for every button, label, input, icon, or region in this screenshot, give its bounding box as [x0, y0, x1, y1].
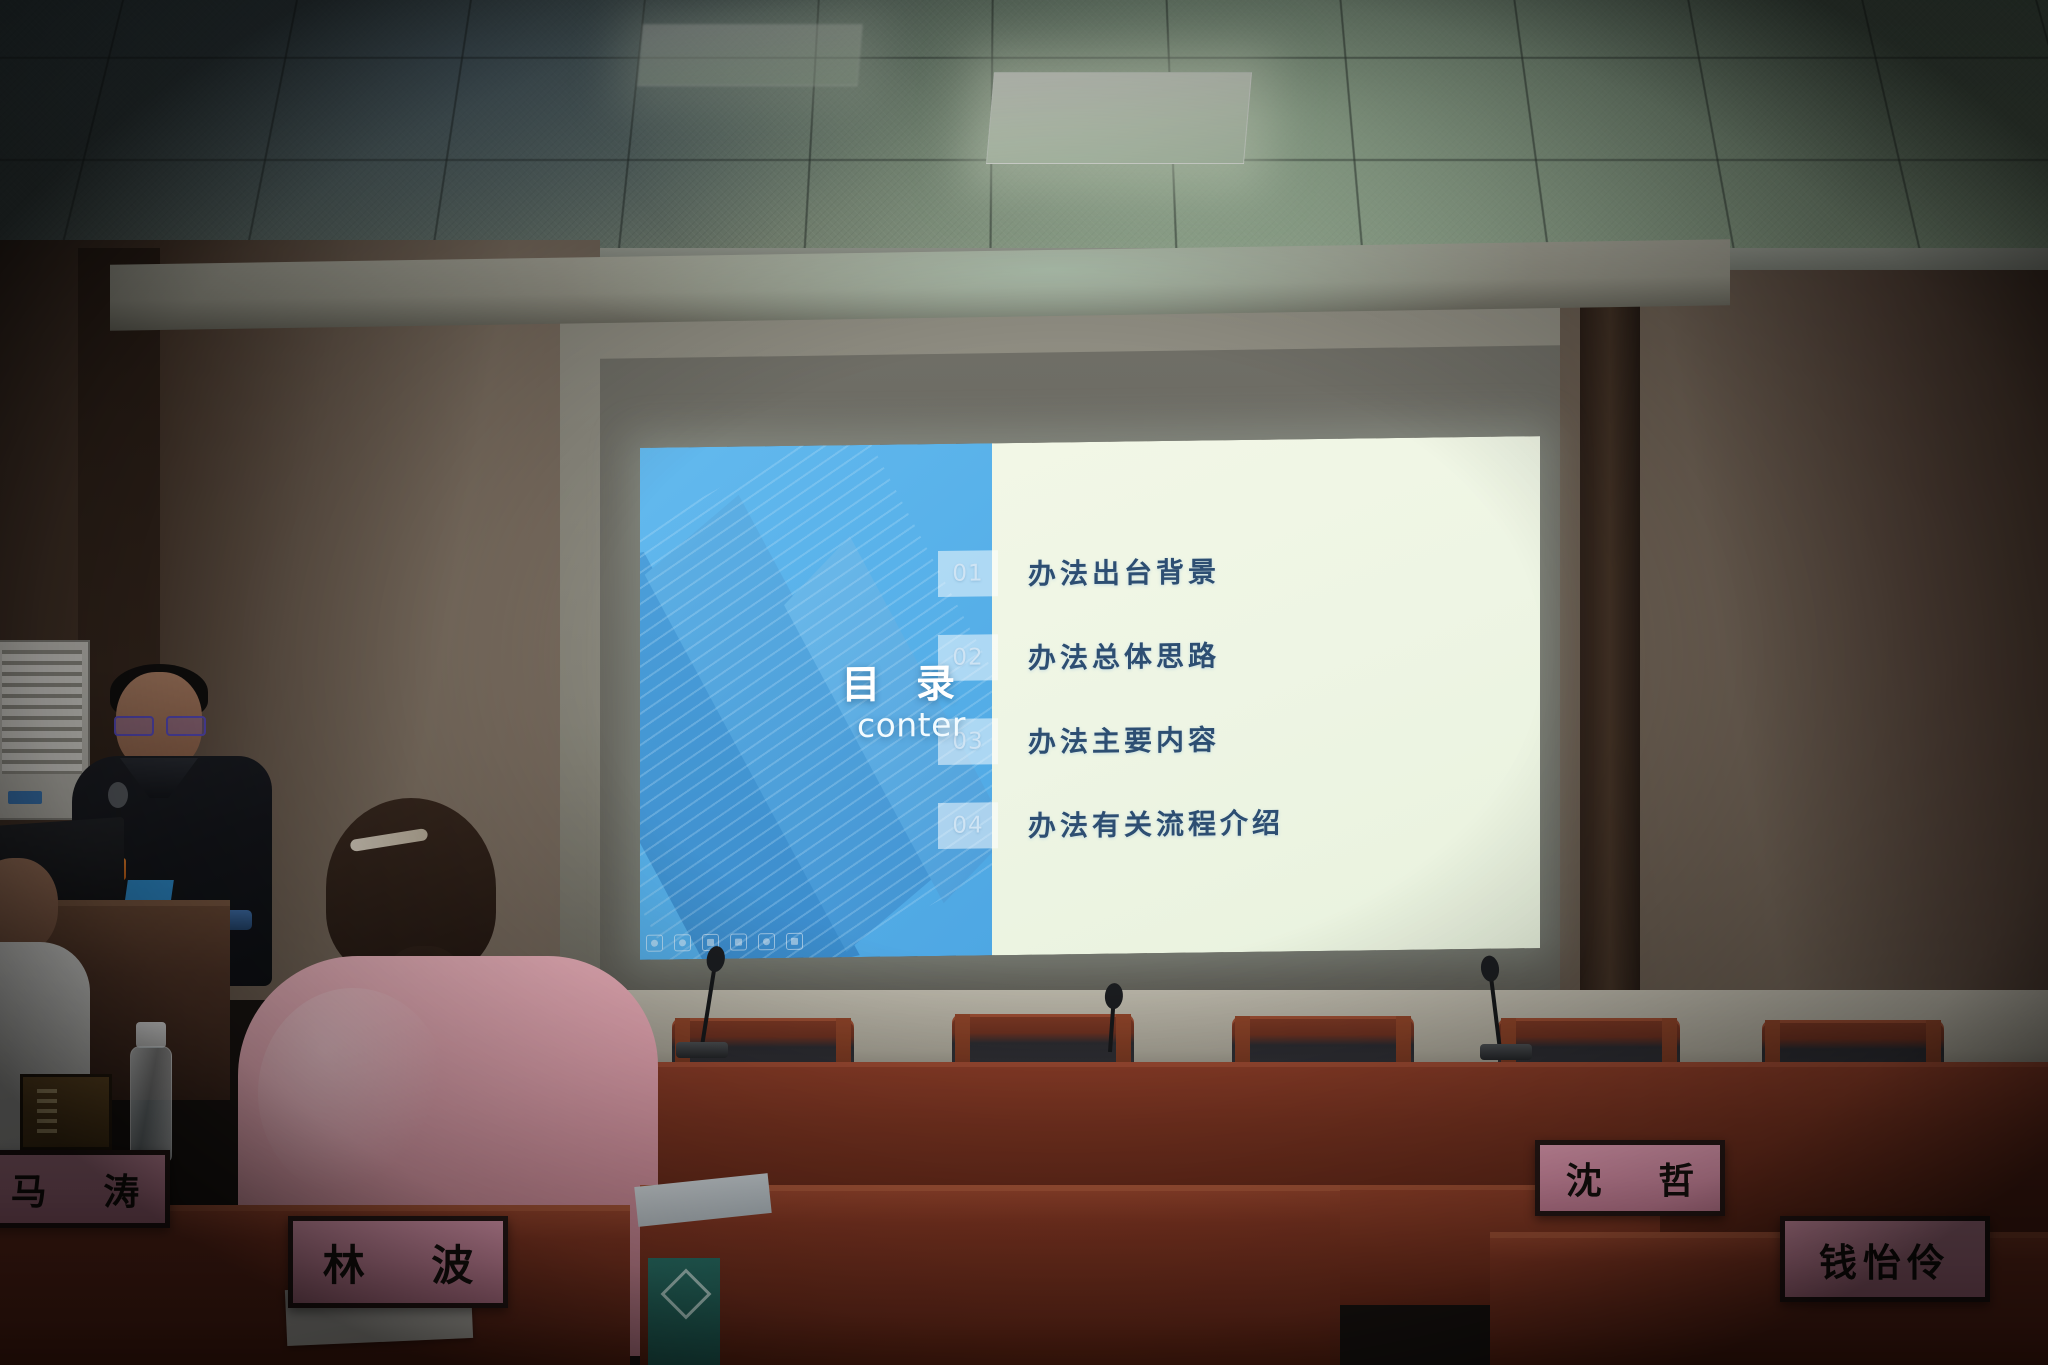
toc-number: 04	[938, 802, 998, 849]
presentation-toolbar[interactable]	[646, 933, 803, 952]
toc-item: 04 办法有关流程介绍	[992, 787, 1540, 856]
nameplate-ma-tao: 马 涛	[0, 1150, 170, 1228]
slide-title-block: 目 录 conter	[841, 664, 992, 745]
teal-equipment-box	[648, 1258, 720, 1365]
toc-label: 办法总体思路	[1028, 634, 1220, 677]
slide-right-panel: 01 办法出台背景 02 办法总体思路 03 办法主要内容 04 办法有关流程介…	[992, 436, 1540, 955]
slide-title-chinese: 目 录	[841, 664, 966, 707]
mic-base-1	[676, 1042, 728, 1058]
ac-brand-badge	[8, 791, 42, 804]
nameplate-text: 林 波	[297, 1232, 500, 1293]
toc-item: 03 办法主要内容	[992, 703, 1540, 772]
bottle-body	[130, 1046, 172, 1162]
slides-icon[interactable]	[730, 933, 747, 950]
glasses-icon	[114, 716, 206, 732]
toc-item: 01 办法出台背景	[992, 535, 1540, 604]
mic-base-2	[1480, 1044, 1532, 1060]
attendee-fabric-highlight	[258, 988, 448, 1198]
toc-label: 办法主要内容	[1028, 718, 1220, 761]
ceiling-light-panel	[986, 72, 1252, 164]
toc-item: 02 办法总体思路	[992, 619, 1540, 688]
slide-left-panel: 目 录 conter	[640, 443, 992, 960]
nameplate-shen-zhe: 沈 哲	[1535, 1140, 1725, 1216]
toc-label: 办法出台背景	[1028, 550, 1220, 593]
pointer-icon[interactable]	[674, 934, 691, 951]
ceiling-light-panel-secondary	[637, 24, 862, 86]
slide-title-english: conter	[841, 705, 966, 745]
conference-room-scene: 目 录 conter 01 办法出台背景 02 办法总体思路	[0, 0, 2048, 1365]
bottle-cap	[136, 1022, 166, 1048]
toc-number: 01	[938, 550, 998, 597]
more-icon[interactable]	[786, 933, 803, 950]
zoom-icon[interactable]	[758, 933, 775, 950]
nameplate-text: 马 涛	[0, 1163, 161, 1215]
nameplate-lin-bo: 林 波	[288, 1216, 508, 1308]
projected-slide: 目 录 conter 01 办法出台背景 02 办法总体思路	[640, 436, 1540, 960]
toc-label: 办法有关流程介绍	[1028, 801, 1284, 844]
water-bottle	[128, 1022, 174, 1162]
nameplate-qian-yiling: 钱怡伶	[1780, 1216, 1990, 1302]
attendee-left-head	[0, 858, 58, 954]
wall-dark-column-right	[1580, 290, 1640, 990]
nameplate-text: 沈 哲	[1544, 1152, 1717, 1204]
wooden-plaque	[20, 1074, 112, 1150]
ceiling	[0, 0, 2048, 262]
nameplate-text: 钱怡伶	[1819, 1232, 1951, 1287]
